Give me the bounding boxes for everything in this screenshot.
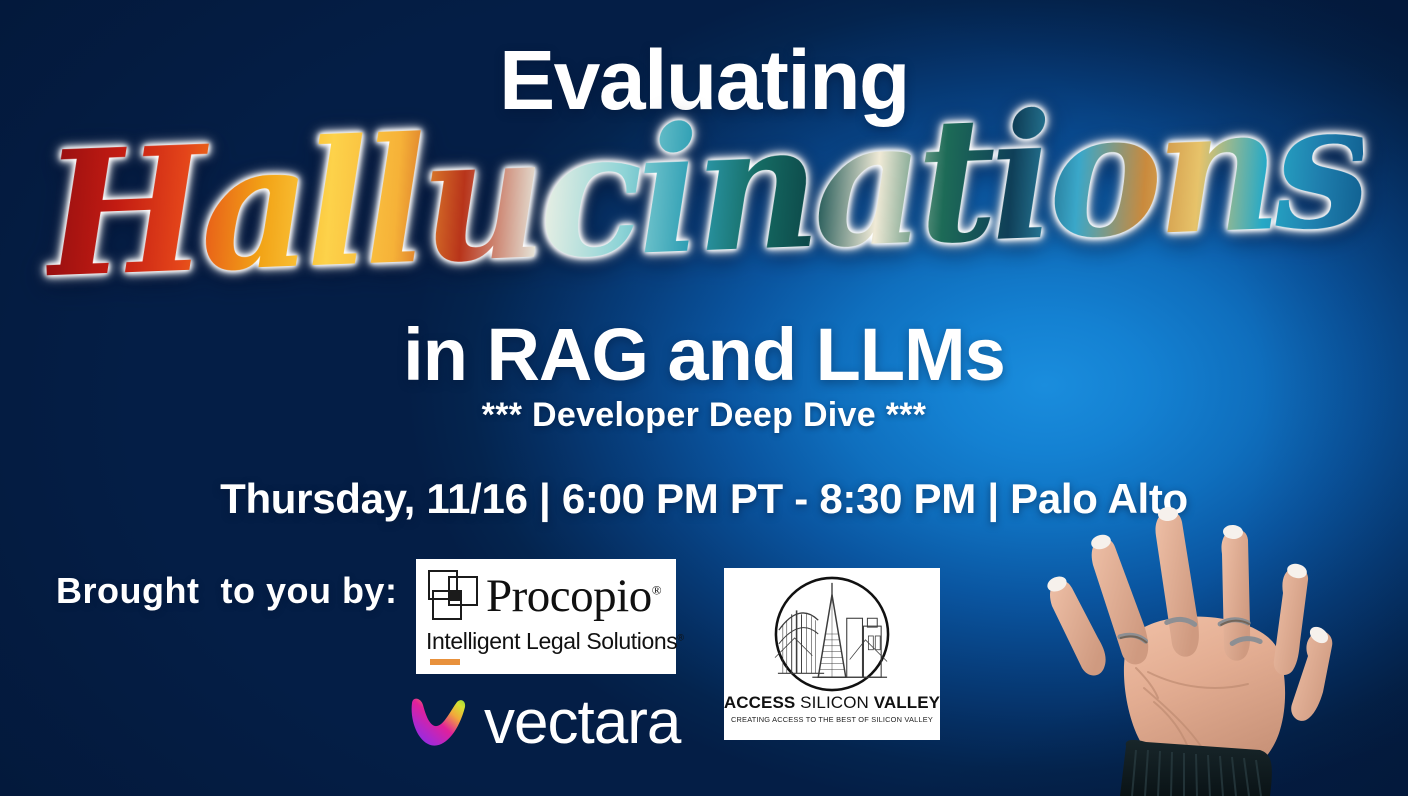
open-hand-six-fingers-icon [1020, 492, 1408, 796]
sponsor-logo-access-silicon-valley[interactable]: ACCESS SILICON VALLEY CREATING ACCESS TO… [724, 568, 940, 740]
asv-wordmark: ACCESS SILICON VALLEY [724, 694, 940, 711]
procopio-tagline: Intelligent Legal Solutions® [426, 629, 668, 654]
asv-word-valley: VALLEY [874, 693, 940, 712]
procopio-name: Procopio® [486, 573, 661, 620]
procopio-wordmark-row: Procopio® [426, 565, 668, 627]
procopio-name-text: Procopio [486, 570, 652, 622]
asv-word-access: ACCESS [724, 693, 795, 712]
procopio-tagline-text: Intelligent Legal Solutions [426, 628, 677, 654]
event-poster: Evaluating Hallucinations in RAG and LLM… [0, 0, 1408, 796]
asv-tagline: CREATING ACCESS TO THE BEST OF SILICON V… [731, 716, 933, 723]
procopio-squares-icon [426, 570, 480, 622]
vectara-wordmark: vectara [484, 692, 680, 754]
asv-word-silicon: SILICON [800, 693, 869, 712]
title-tagline-developer-deep-dive: *** Developer Deep Dive *** [0, 398, 1408, 432]
title-line-in-rag-and-llms: in RAG and LLMs [0, 318, 1408, 392]
procopio-tagline-mark: ® [677, 632, 683, 642]
title-hallucinations-wrap: Hallucinations [0, 104, 1408, 319]
procopio-accent-dash [430, 659, 460, 665]
sponsor-logo-vectara[interactable]: vectara [408, 692, 680, 754]
san-francisco-skyline-icon [773, 575, 891, 693]
vectara-v-mark-icon [408, 694, 470, 752]
title-word-hallucinations: Hallucinations [41, 79, 1366, 302]
sponsor-logo-procopio[interactable]: Procopio® Intelligent Legal Solutions® [416, 559, 676, 674]
sponsors-intro-label: Brought to you by: [56, 570, 397, 612]
procopio-registered-mark: ® [652, 582, 661, 597]
hand-photo [1020, 492, 1408, 796]
